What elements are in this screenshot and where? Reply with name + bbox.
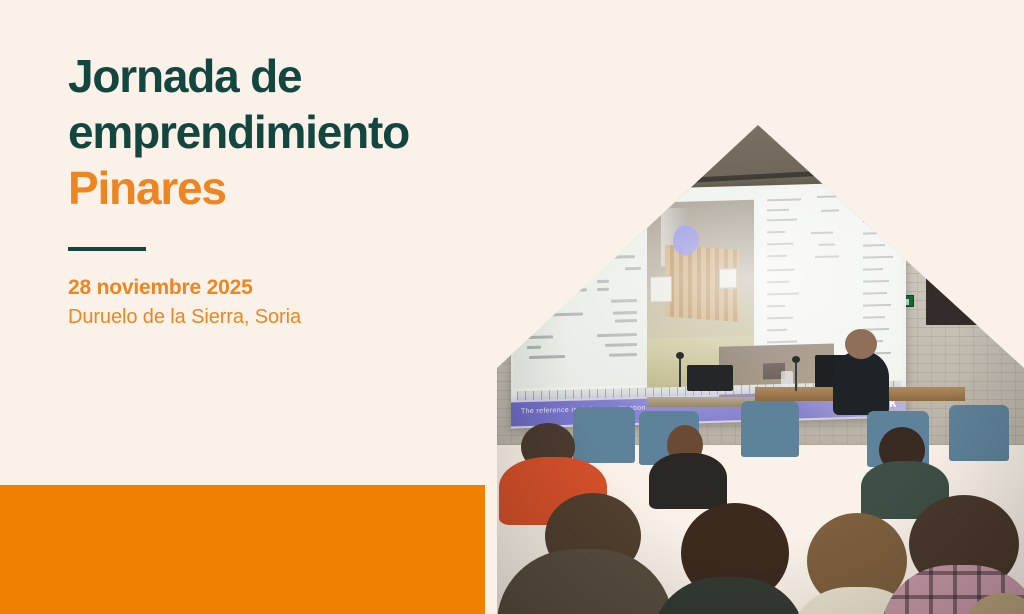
event-date: 28 noviembre 2025 — [68, 275, 301, 301]
headline-block: Jornada de emprendimiento Pinares — [68, 48, 498, 216]
wall-dark-panel — [926, 253, 998, 325]
chair-row2-5 — [949, 405, 1009, 461]
speaker-person-left — [833, 351, 889, 415]
page-title: Jornada de emprendimiento Pinares — [68, 48, 498, 216]
microphone-3 — [795, 361, 797, 391]
poster-canvas: Jornada de emprendimiento Pinares 28 nov… — [0, 0, 1024, 614]
render-window-right — [719, 268, 737, 289]
chair-row2-1 — [573, 407, 635, 463]
divider-rule — [68, 247, 146, 251]
event-meta: 28 noviembre 2025 Duruelo de la Sierra, … — [68, 275, 301, 331]
render-window-left — [650, 276, 672, 303]
event-location: Duruelo de la Sierra, Soria — [68, 303, 301, 331]
orange-accent-block — [0, 485, 485, 614]
title-line-3: Pinares — [68, 160, 498, 216]
chair-row2-3 — [741, 401, 799, 457]
title-line-1: Jornada de — [68, 48, 498, 104]
conference-photo: The reference in timber construction wor… — [497, 125, 1024, 614]
title-line-2: emprendimiento — [68, 104, 498, 160]
microphone-1 — [679, 357, 681, 387]
front-monitor-left — [687, 365, 733, 391]
photo-scene: The reference in timber construction wor… — [497, 125, 1024, 614]
